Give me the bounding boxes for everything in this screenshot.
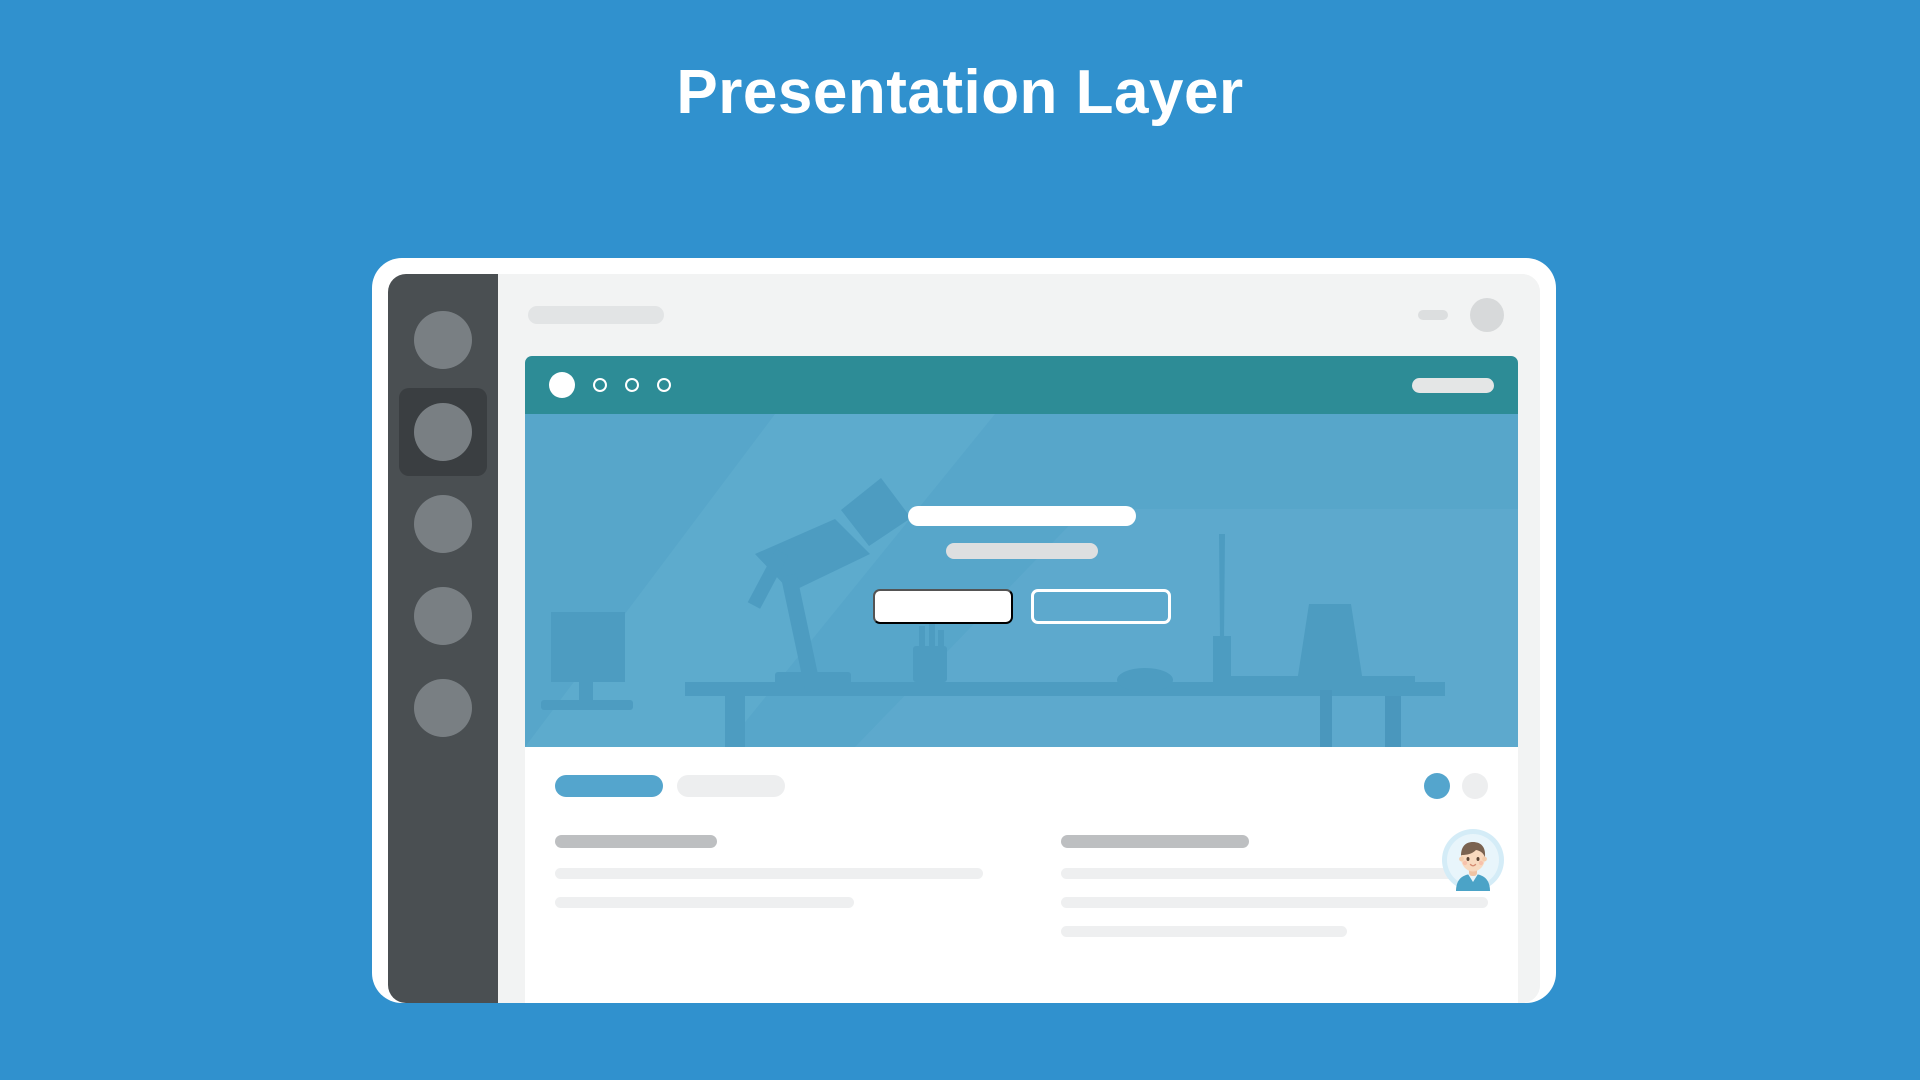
text-line xyxy=(1061,868,1489,879)
tab-secondary[interactable] xyxy=(677,775,785,797)
app-header xyxy=(498,274,1540,356)
sidebar-item-3[interactable] xyxy=(399,480,487,568)
circle-icon xyxy=(414,587,472,645)
column-right xyxy=(1061,835,1489,955)
address-bar-placeholder[interactable] xyxy=(1412,378,1494,393)
circle-outline-icon[interactable] xyxy=(657,378,671,392)
column-heading-placeholder xyxy=(1061,835,1249,848)
device-screen xyxy=(388,274,1540,1003)
person-avatar-icon xyxy=(1442,829,1504,891)
minimize-icon[interactable] xyxy=(1418,310,1448,320)
hero-content xyxy=(525,506,1518,624)
tab-primary[interactable] xyxy=(555,775,663,797)
tabs-row xyxy=(555,773,1488,799)
text-line xyxy=(1061,926,1347,937)
page-title: Presentation Layer xyxy=(0,62,1920,124)
text-line xyxy=(1061,897,1489,908)
circle-icon xyxy=(414,311,472,369)
sidebar-item-2[interactable] xyxy=(399,388,487,476)
hero-secondary-button[interactable] xyxy=(1031,589,1171,624)
app-panel xyxy=(498,274,1540,1003)
indicator-1[interactable] xyxy=(1424,773,1450,799)
circle-outline-icon[interactable] xyxy=(593,378,607,392)
indicator-2[interactable] xyxy=(1462,773,1488,799)
user-avatar[interactable] xyxy=(1442,829,1504,891)
app-sidebar xyxy=(388,274,498,1003)
hero-primary-button[interactable] xyxy=(873,589,1013,624)
column-left xyxy=(555,835,983,955)
circle-icon xyxy=(414,495,472,553)
hero-subheadline-placeholder xyxy=(946,543,1098,559)
content-columns xyxy=(555,835,1488,955)
text-line xyxy=(555,868,983,879)
circle-icon xyxy=(414,403,472,461)
text-line xyxy=(555,897,854,908)
tablet-device-frame xyxy=(372,258,1556,1003)
hero-section xyxy=(525,414,1518,747)
circle-icon xyxy=(414,679,472,737)
browser-window xyxy=(525,356,1518,1003)
circle-outline-icon[interactable] xyxy=(625,378,639,392)
content-section xyxy=(525,747,1518,1003)
app-title-placeholder xyxy=(528,306,664,324)
circle-filled-icon[interactable] xyxy=(549,372,575,398)
sidebar-item-5[interactable] xyxy=(399,664,487,752)
avatar-icon[interactable] xyxy=(1470,298,1504,332)
hero-headline-placeholder xyxy=(908,506,1136,526)
browser-titlebar xyxy=(525,356,1518,414)
sidebar-item-1[interactable] xyxy=(399,296,487,384)
sidebar-item-4[interactable] xyxy=(399,572,487,660)
hero-button-group xyxy=(873,589,1171,624)
column-heading-placeholder xyxy=(555,835,717,848)
